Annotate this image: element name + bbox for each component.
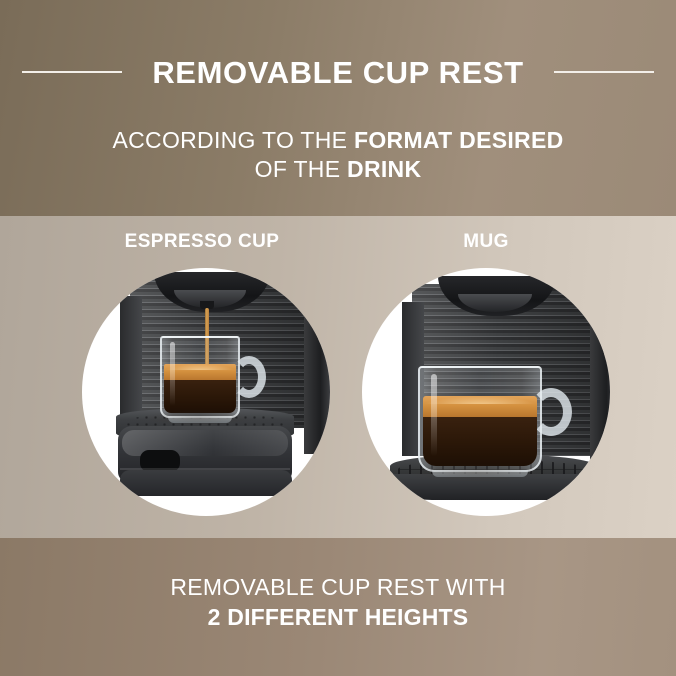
photo-mug-scene — [362, 268, 610, 516]
promo-poster: REMOVABLE CUP REST ACCORDING TO THE FORM… — [0, 0, 676, 676]
photo-espresso-cup — [82, 268, 330, 516]
machine-left-shoulder — [120, 296, 142, 428]
subtitle-line2-light: OF THE — [255, 156, 347, 182]
mug-crema — [423, 396, 537, 417]
machine-side-wall-right — [590, 274, 610, 488]
footer-caption: REMOVABLE CUP REST WITH 2 DIFFERENT HEIG… — [0, 572, 676, 632]
page-title: REMOVABLE CUP REST — [152, 57, 523, 88]
title-row: REMOVABLE CUP REST — [0, 52, 676, 92]
mug-highlight — [431, 374, 437, 456]
espresso-cup-shadow — [142, 410, 254, 426]
subtitle-line1-light: ACCORDING TO THE — [112, 127, 354, 153]
mug — [418, 366, 542, 472]
column-label-mug: MUG — [362, 231, 610, 253]
footer-line1: REMOVABLE CUP REST WITH — [170, 574, 505, 600]
title-rule-right — [554, 71, 654, 73]
column-label-espresso-cup: ESPRESSO CUP — [78, 231, 326, 253]
footer-line2: 2 DIFFERENT HEIGHTS — [208, 604, 469, 630]
subtitle: ACCORDING TO THE FORMAT DESIRED OF THE D… — [0, 126, 676, 184]
machine-side-wall-left — [304, 268, 330, 454]
photo-espresso-scene — [82, 268, 330, 516]
mug-liquid — [423, 396, 537, 466]
espresso-cup — [160, 336, 240, 418]
subtitle-line1-bold: FORMAT DESIRED — [354, 127, 564, 153]
title-rule-left — [22, 71, 122, 73]
mug-shadow — [402, 464, 552, 482]
espresso-cup-highlight — [170, 342, 175, 406]
photo-mug — [362, 268, 610, 516]
subtitle-line2-bold: DRINK — [347, 156, 421, 182]
mug-coffee — [423, 417, 537, 466]
drip-tray-below-rest — [120, 470, 292, 496]
